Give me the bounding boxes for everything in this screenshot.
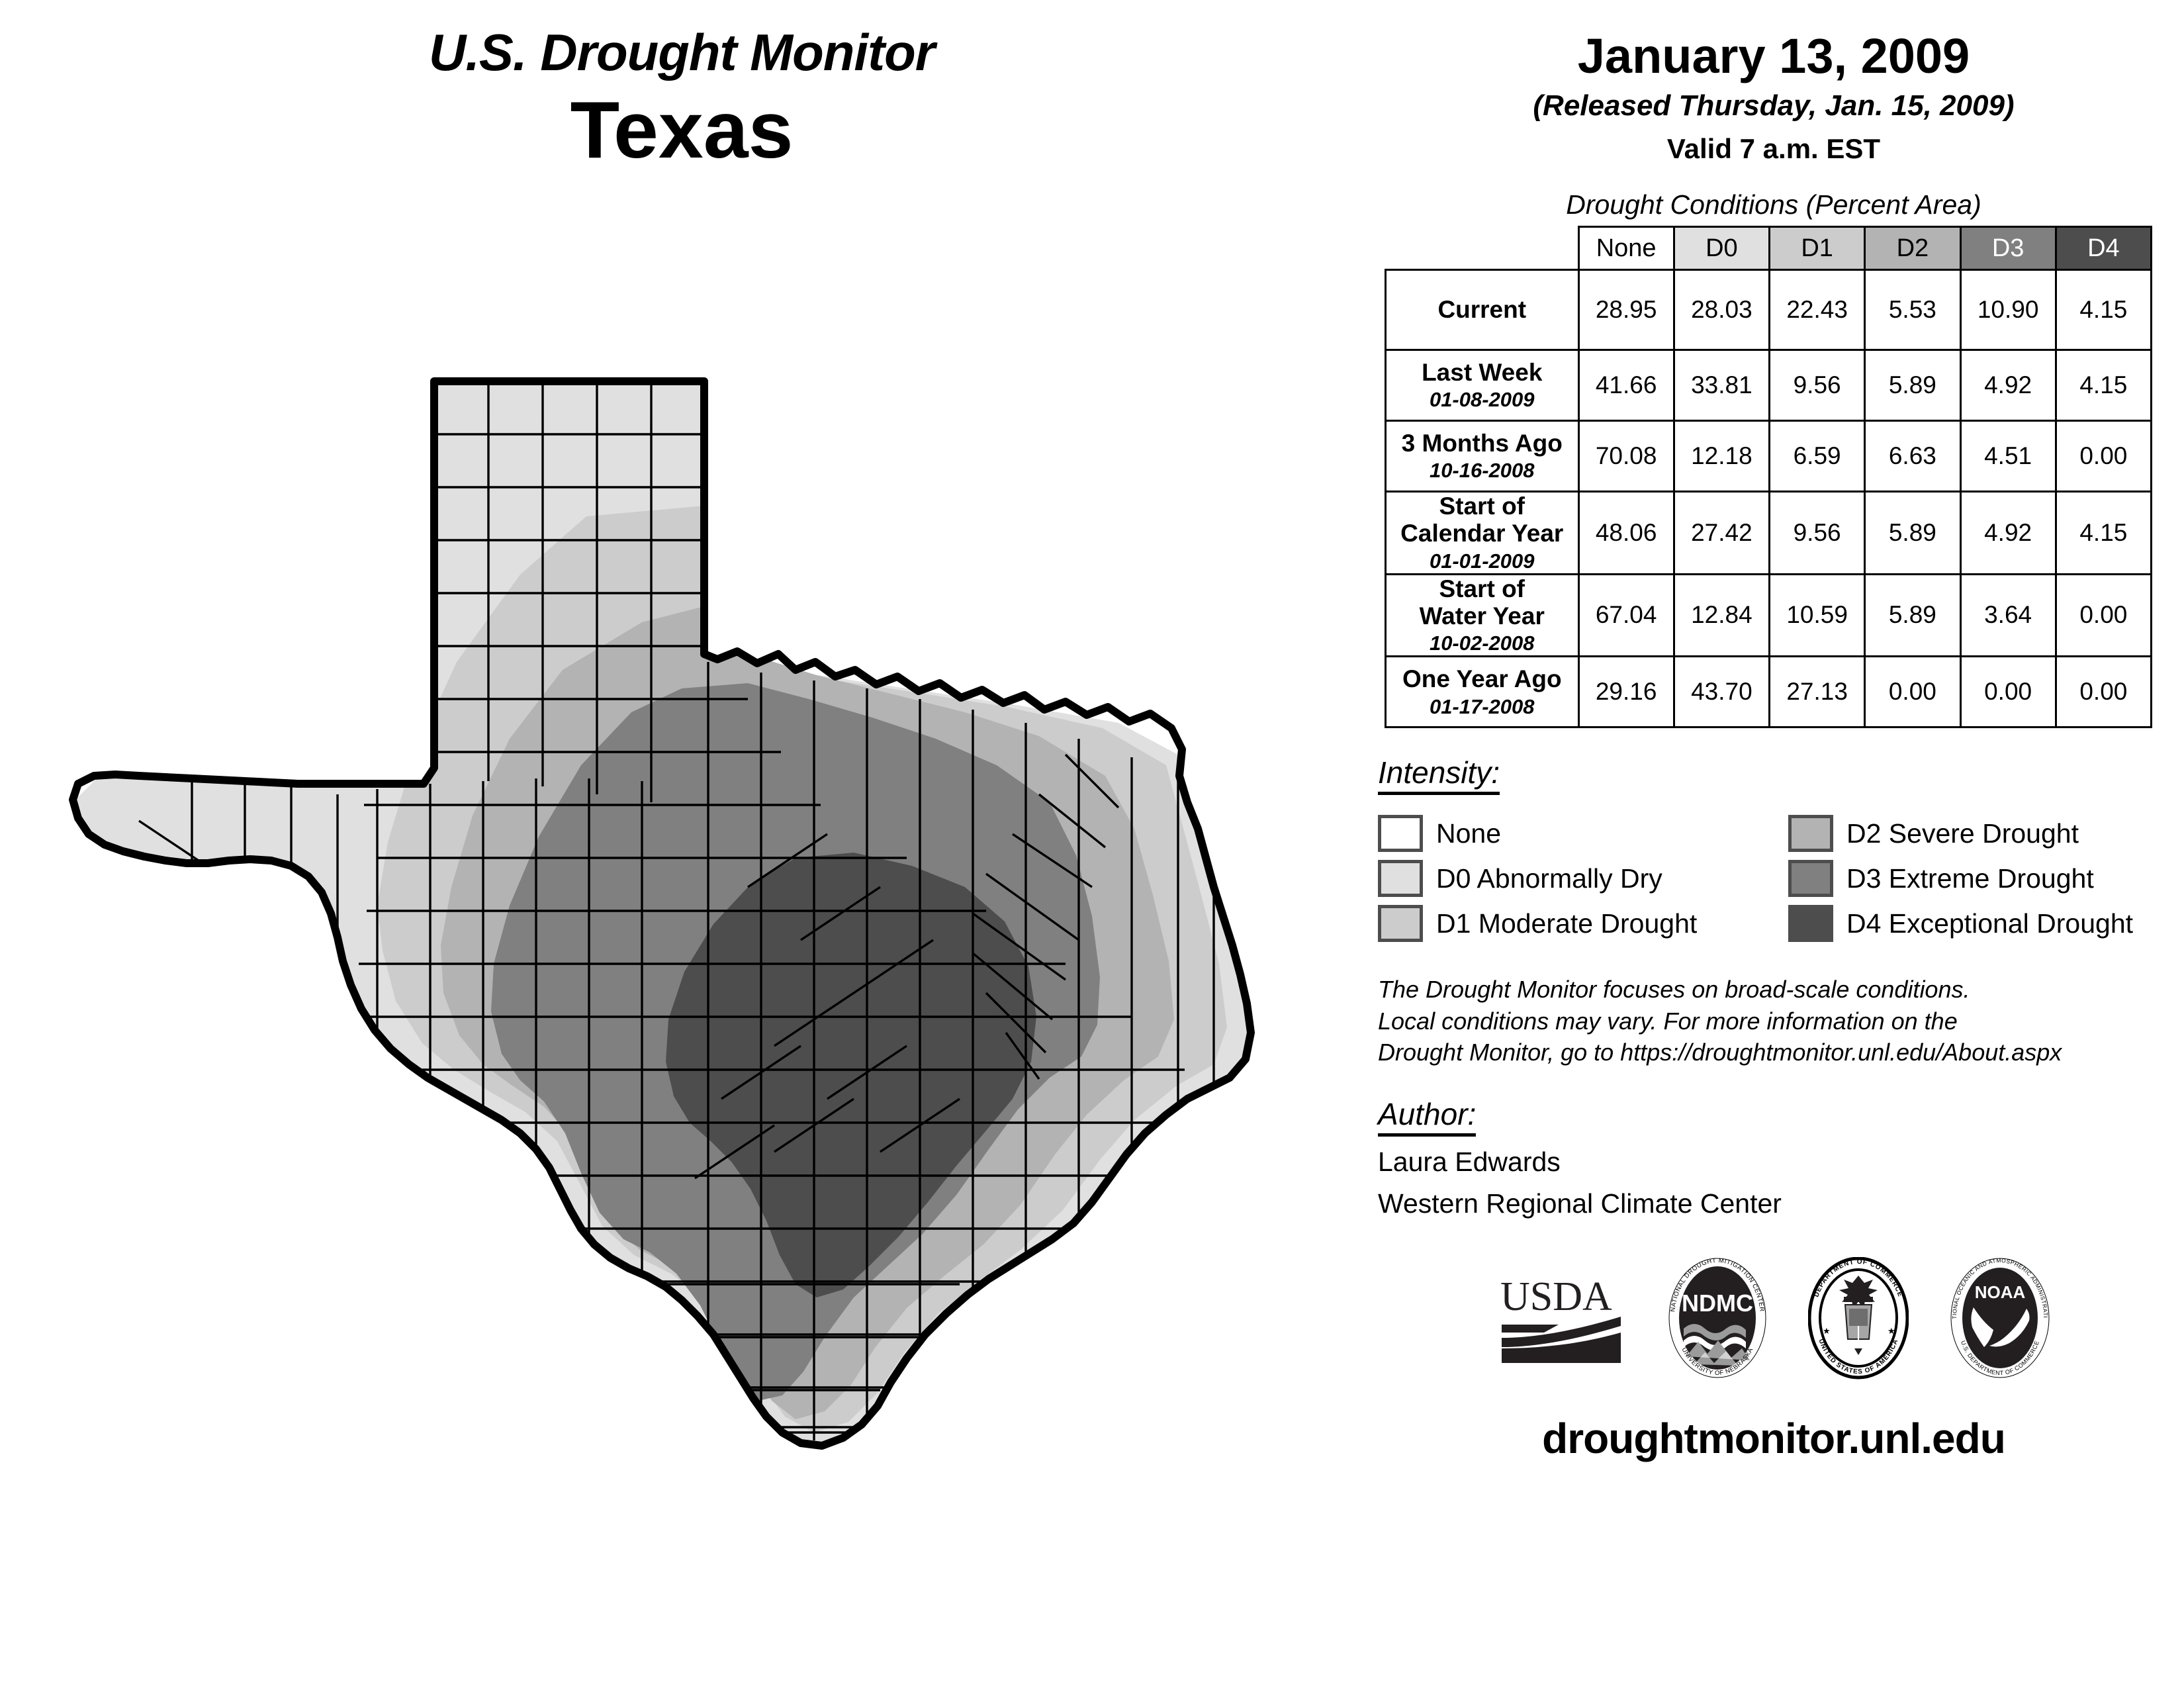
- map-drought-layers: [60, 357, 1357, 1470]
- title-block: U.S. Drought Monitor Texas: [0, 26, 1363, 172]
- table-cell-d3: 10.90: [1960, 270, 2056, 350]
- legend-label: D4 Exceptional Drought: [1846, 908, 2133, 939]
- row-label: One Year Ago01-17-2008: [1386, 657, 1579, 727]
- legend-item: D1 Moderate Drought: [1378, 905, 1788, 942]
- table-cell-d4: 4.15: [2056, 492, 2151, 575]
- table-cell-d1: 9.56: [1770, 492, 1865, 575]
- table-body: Current28.9528.0322.435.5310.904.15Last …: [1386, 270, 2152, 727]
- disclaimer-text: The Drought Monitor focuses on broad-sca…: [1378, 974, 2184, 1068]
- table-cell-none: 48.06: [1578, 492, 1674, 575]
- table-cell-d2: 5.89: [1865, 350, 1960, 421]
- doc-logo: DEPARTMENT OF COMMERCE UNITED STATES OF …: [1808, 1257, 1909, 1380]
- table-caption: Drought Conditions (Percent Area): [1363, 189, 2184, 220]
- table-cell-d2: 5.89: [1865, 492, 1960, 575]
- table-cell-d1: 10.59: [1770, 574, 1865, 657]
- table-cell-d0: 27.42: [1674, 492, 1769, 575]
- legend-label: D2 Severe Drought: [1846, 818, 2079, 849]
- table-header-row: NoneD0D1D2D3D4: [1386, 227, 2152, 270]
- row-label: Last Week01-08-2009: [1386, 350, 1579, 421]
- legend-swatch: [1378, 905, 1423, 942]
- table-cell-d4: 4.15: [2056, 350, 2151, 421]
- svg-text:NDMC: NDMC: [1682, 1289, 1753, 1317]
- legend-label: D3 Extreme Drought: [1846, 863, 2094, 894]
- table-cell-d2: 5.89: [1865, 574, 1960, 657]
- intensity-heading: Intensity:: [1378, 755, 1500, 795]
- row-label: Current: [1386, 270, 1579, 350]
- logo-row: USDA NDMC NATIONAL DROUGHT MITIGATION CE…: [1363, 1257, 2184, 1380]
- table-cell-d4: 0.00: [2056, 574, 2151, 657]
- intensity-legend: NoneD2 Severe DroughtD0 Abnormally DryD3…: [1378, 811, 2184, 946]
- table-cell-d3: 4.92: [1960, 492, 2056, 575]
- legend-item: D0 Abnormally Dry: [1378, 860, 1788, 897]
- legend-swatch: [1788, 815, 1833, 852]
- state-title: Texas: [0, 87, 1363, 172]
- texas-map-svg[interactable]: [60, 357, 1357, 1470]
- texas-drought-map[interactable]: [60, 357, 1357, 1470]
- legend-label: D1 Moderate Drought: [1436, 908, 1697, 939]
- row-label: Start ofCalendar Year01-01-2009: [1386, 492, 1579, 575]
- ndmc-logo: NDMC NATIONAL DROUGHT MITIGATION CENTER …: [1668, 1257, 1767, 1380]
- issue-date: January 13, 2009: [1363, 32, 2184, 81]
- disclaimer-line-2: Local conditions may vary. For more info…: [1378, 1006, 2184, 1037]
- svg-text:★: ★: [1888, 1326, 1895, 1336]
- table-cell-d0: 28.03: [1674, 270, 1769, 350]
- right-panel: January 13, 2009 (Released Thursday, Jan…: [1363, 0, 2184, 1688]
- table-row: Current28.9528.0322.435.5310.904.15: [1386, 270, 2152, 350]
- legend-swatch: [1788, 905, 1833, 942]
- table-cell-d0: 12.84: [1674, 574, 1769, 657]
- author-heading: Author:: [1378, 1096, 1476, 1137]
- table-row: One Year Ago01-17-200829.1643.7027.130.0…: [1386, 657, 2152, 727]
- table-cell-none: 29.16: [1578, 657, 1674, 727]
- table-cell-d2: 6.63: [1865, 421, 1960, 492]
- table-cell-d1: 27.13: [1770, 657, 1865, 727]
- site-url[interactable]: droughtmonitor.unl.edu: [1363, 1414, 2184, 1463]
- drought-conditions-table: NoneD0D1D2D3D4 Current28.9528.0322.435.5…: [1385, 226, 2152, 728]
- svg-text:★: ★: [1823, 1326, 1831, 1336]
- table-cell-none: 67.04: [1578, 574, 1674, 657]
- table-cell-d3: 3.64: [1960, 574, 2056, 657]
- table-row: Start ofCalendar Year01-01-200948.0627.4…: [1386, 492, 2152, 575]
- legend-swatch: [1378, 815, 1423, 852]
- table-col-header-d4: D4: [2056, 227, 2151, 270]
- table-cell-none: 28.95: [1578, 270, 1674, 350]
- table-cell-d3: 0.00: [1960, 657, 2056, 727]
- noaa-logo: NOAA NATIONAL OCEANIC AND ATMOSPHERIC AD…: [1950, 1257, 2050, 1380]
- table-row: Last Week01-08-200941.6633.819.565.894.9…: [1386, 350, 2152, 421]
- table-cell-d4: 4.15: [2056, 270, 2151, 350]
- table-cell-d3: 4.51: [1960, 421, 2056, 492]
- row-label: 3 Months Ago10-16-2008: [1386, 421, 1579, 492]
- table-cell-d0: 12.18: [1674, 421, 1769, 492]
- legend-swatch: [1378, 860, 1423, 897]
- author-affiliation: Western Regional Climate Center: [1378, 1188, 2184, 1220]
- table-cell-d4: 0.00: [2056, 657, 2151, 727]
- disclaimer-line-3: Drought Monitor, go to https://droughtmo…: [1378, 1037, 2184, 1068]
- table-cell-none: 70.08: [1578, 421, 1674, 492]
- table-col-header-d3: D3: [1960, 227, 2056, 270]
- table-cell-none: 41.66: [1578, 350, 1674, 421]
- valid-time: Valid 7 a.m. EST: [1363, 135, 2184, 163]
- author-name: Laura Edwards: [1378, 1146, 2184, 1178]
- legend-item: D2 Severe Drought: [1788, 815, 2184, 852]
- legend-item: D3 Extreme Drought: [1788, 860, 2184, 897]
- table-cell-d0: 43.70: [1674, 657, 1769, 727]
- table-cell-d1: 6.59: [1770, 421, 1865, 492]
- date-block: January 13, 2009 (Released Thursday, Jan…: [1363, 0, 2184, 163]
- table-col-header-none: None: [1578, 227, 1674, 270]
- table-col-header-d1: D1: [1770, 227, 1865, 270]
- svg-text:NOAA: NOAA: [1974, 1282, 2025, 1302]
- svg-text:USDA: USDA: [1500, 1274, 1612, 1319]
- table-row: Start ofWater Year10-02-200867.0412.8410…: [1386, 574, 2152, 657]
- table-cell-d3: 4.92: [1960, 350, 2056, 421]
- table-cell-d4: 0.00: [2056, 421, 2151, 492]
- table-cell-d1: 22.43: [1770, 270, 1865, 350]
- row-label: Start ofWater Year10-02-2008: [1386, 574, 1579, 657]
- table-col-header-d0: D0: [1674, 227, 1769, 270]
- legend-label: None: [1436, 818, 1501, 849]
- table-cell-d2: 0.00: [1865, 657, 1960, 727]
- page-title: U.S. Drought Monitor: [0, 26, 1363, 78]
- legend-item: D4 Exceptional Drought: [1788, 905, 2184, 942]
- release-date: (Released Thursday, Jan. 15, 2009): [1363, 91, 2184, 120]
- legend-label: D0 Abnormally Dry: [1436, 863, 1662, 894]
- table-cell-d1: 9.56: [1770, 350, 1865, 421]
- legend-swatch: [1788, 860, 1833, 897]
- table-row: 3 Months Ago10-16-200870.0812.186.596.63…: [1386, 421, 2152, 492]
- table-corner-cell: [1386, 227, 1579, 270]
- usda-logo: USDA: [1498, 1269, 1627, 1368]
- legend-item: None: [1378, 815, 1788, 852]
- disclaimer-line-1: The Drought Monitor focuses on broad-sca…: [1378, 974, 2184, 1006]
- table-cell-d2: 5.53: [1865, 270, 1960, 350]
- table-cell-d0: 33.81: [1674, 350, 1769, 421]
- table-col-header-d2: D2: [1865, 227, 1960, 270]
